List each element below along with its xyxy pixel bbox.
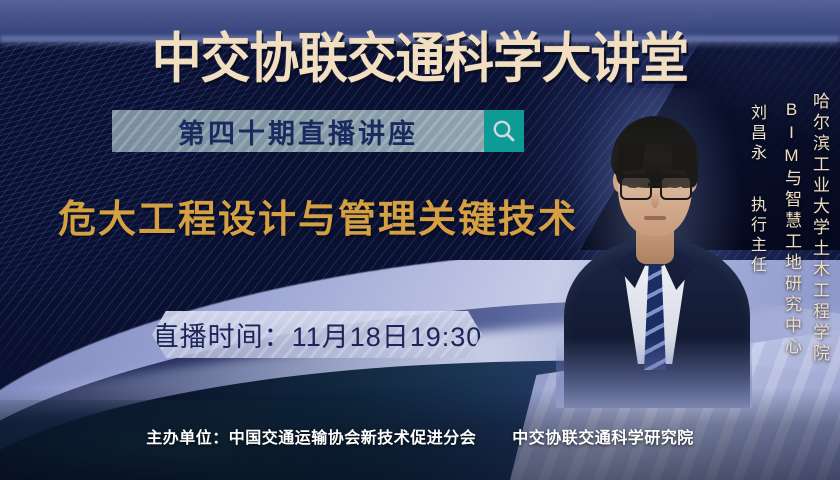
page-title: 中交协联交通科学大讲堂	[34, 14, 807, 93]
search-button[interactable]	[484, 110, 524, 152]
organizer-primary: 主办单位：中国交通运输协会新技术促进分会	[146, 430, 476, 447]
live-time-text: 直播时间：11月18日19:30	[152, 315, 482, 354]
speaker-name: 刘昌永	[744, 104, 768, 164]
speaker-affiliation: 哈尔滨工业大学土木工程学院	[807, 92, 832, 365]
portrait-bottom-fade	[556, 338, 752, 408]
speaker-portrait	[556, 88, 752, 408]
subtitle-bar: 第四十期直播讲座	[112, 110, 484, 152]
portrait-nose	[651, 192, 659, 208]
poster-canvas: 哈尔滨工业大学土木工程学院 BIM与智慧工地研究中心 刘昌永 执行主任 中交协联…	[0, 0, 840, 480]
speaker-research-center: BIM与智慧工地研究中心	[779, 100, 804, 358]
subtitle-row: 第四十期直播讲座	[112, 110, 524, 152]
portrait-mouth	[644, 216, 666, 220]
organizer-secondary: 中交协联交通科学研究院	[512, 430, 694, 447]
live-time-badge: 直播时间：11月18日19:30	[152, 311, 482, 358]
glasses-lens-right	[660, 176, 692, 200]
organizer-line: 主办单位：中国交通运输协会新技术促进分会 中交协联交通科学研究院	[0, 424, 840, 448]
subtitle-label: 第四十期直播讲座	[178, 112, 418, 151]
lecture-title: 危大工程设计与管理关键技术	[58, 188, 578, 243]
speaker-role: 执行主任	[744, 196, 768, 276]
glasses-bridge	[648, 183, 660, 186]
search-icon	[491, 118, 517, 144]
glasses-lens-left	[620, 176, 652, 200]
